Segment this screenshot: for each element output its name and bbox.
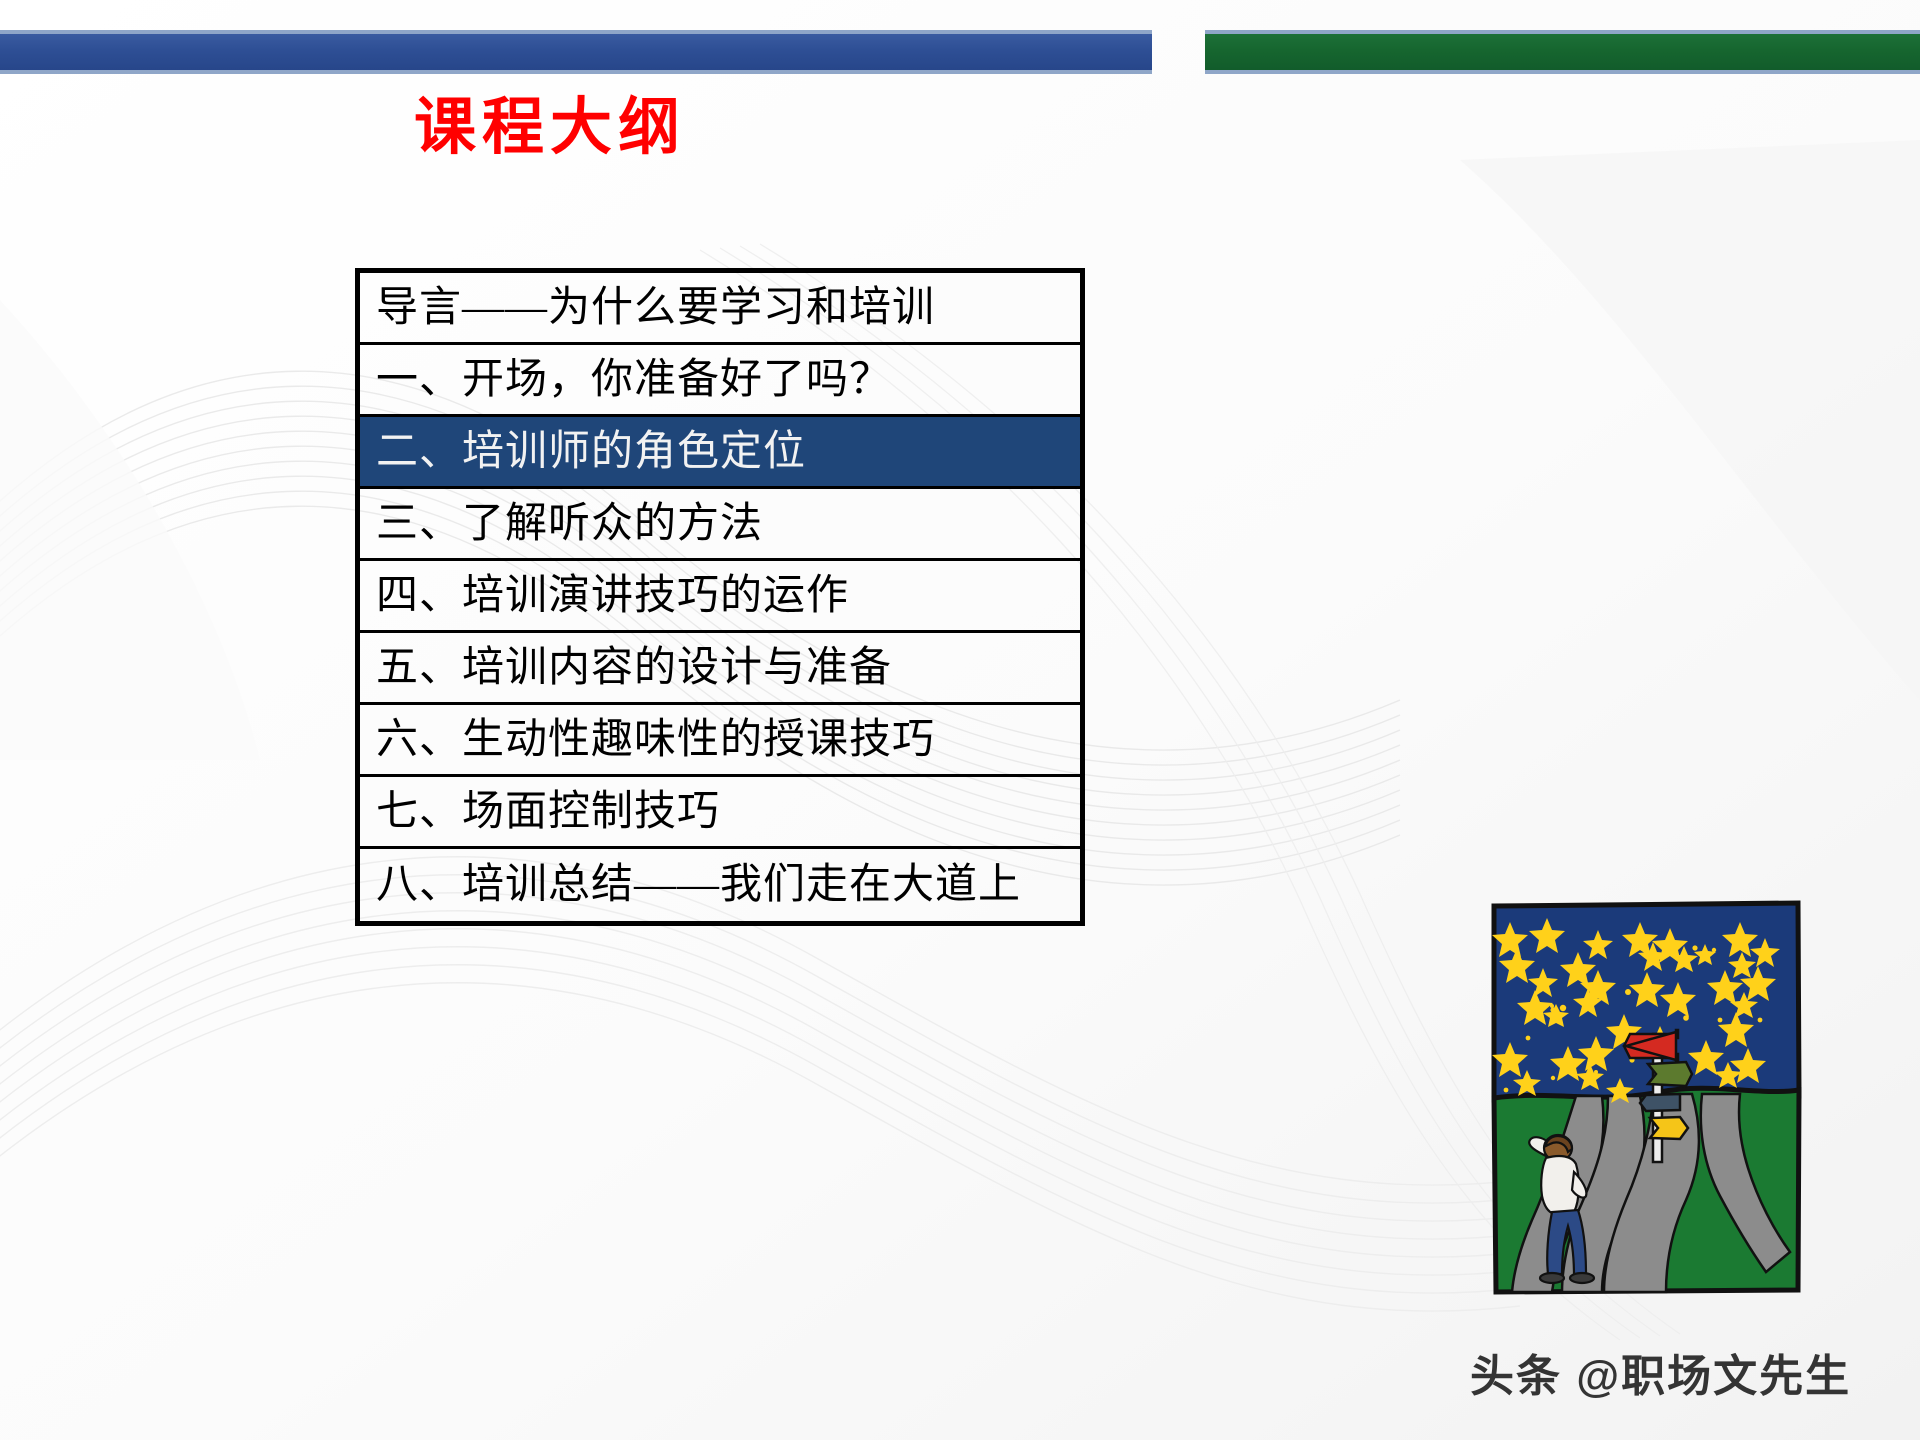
outline-row-label: 八、培训总结——我们走在大道上 <box>376 864 1021 906</box>
watermark-text: 头条 @职场文先生 <box>1470 1340 1851 1404</box>
outline-row-1[interactable]: 一、开场，你准备好了吗？ <box>360 345 1080 417</box>
outline-row-2-selected[interactable]: 二、培训师的角色定位 <box>360 417 1080 489</box>
green-accent-bar <box>1205 30 1920 74</box>
course-outline-table: 导言——为什么要学习和培训 一、开场，你准备好了吗？ 二、培训师的角色定位 三、… <box>355 268 1085 926</box>
outline-row-label: 四、培训演讲技巧的运作 <box>376 575 849 617</box>
outline-row-label: 二、培训师的角色定位 <box>376 431 806 473</box>
outline-row-label: 五、培训内容的设计与准备 <box>376 647 892 689</box>
crossroads-signpost-illustration <box>1490 900 1802 1296</box>
outline-row-0[interactable]: 导言——为什么要学习和培训 <box>360 273 1080 345</box>
outline-row-7[interactable]: 七、场面控制技巧 <box>360 777 1080 849</box>
outline-row-5[interactable]: 五、培训内容的设计与准备 <box>360 633 1080 705</box>
outline-row-label: 导言——为什么要学习和培训 <box>376 287 935 329</box>
outline-row-label: 六、生动性趣味性的授课技巧 <box>376 719 935 761</box>
outline-row-label: 一、开场，你准备好了吗？ <box>376 359 892 401</box>
page-title: 课程大纲 <box>0 96 1100 161</box>
outline-row-6[interactable]: 六、生动性趣味性的授课技巧 <box>360 705 1080 777</box>
outline-row-label: 七、场面控制技巧 <box>376 791 720 833</box>
outline-row-4[interactable]: 四、培训演讲技巧的运作 <box>360 561 1080 633</box>
slide-canvas: 课程大纲 导言——为什么要学习和培训 一、开场，你准备好了吗？ 二、培训师的角色… <box>0 0 1920 1440</box>
outline-row-8[interactable]: 八、培训总结——我们走在大道上 <box>360 849 1080 921</box>
blue-accent-bar <box>0 30 1152 74</box>
outline-row-3[interactable]: 三、了解听众的方法 <box>360 489 1080 561</box>
outline-row-label: 三、了解听众的方法 <box>376 503 763 545</box>
